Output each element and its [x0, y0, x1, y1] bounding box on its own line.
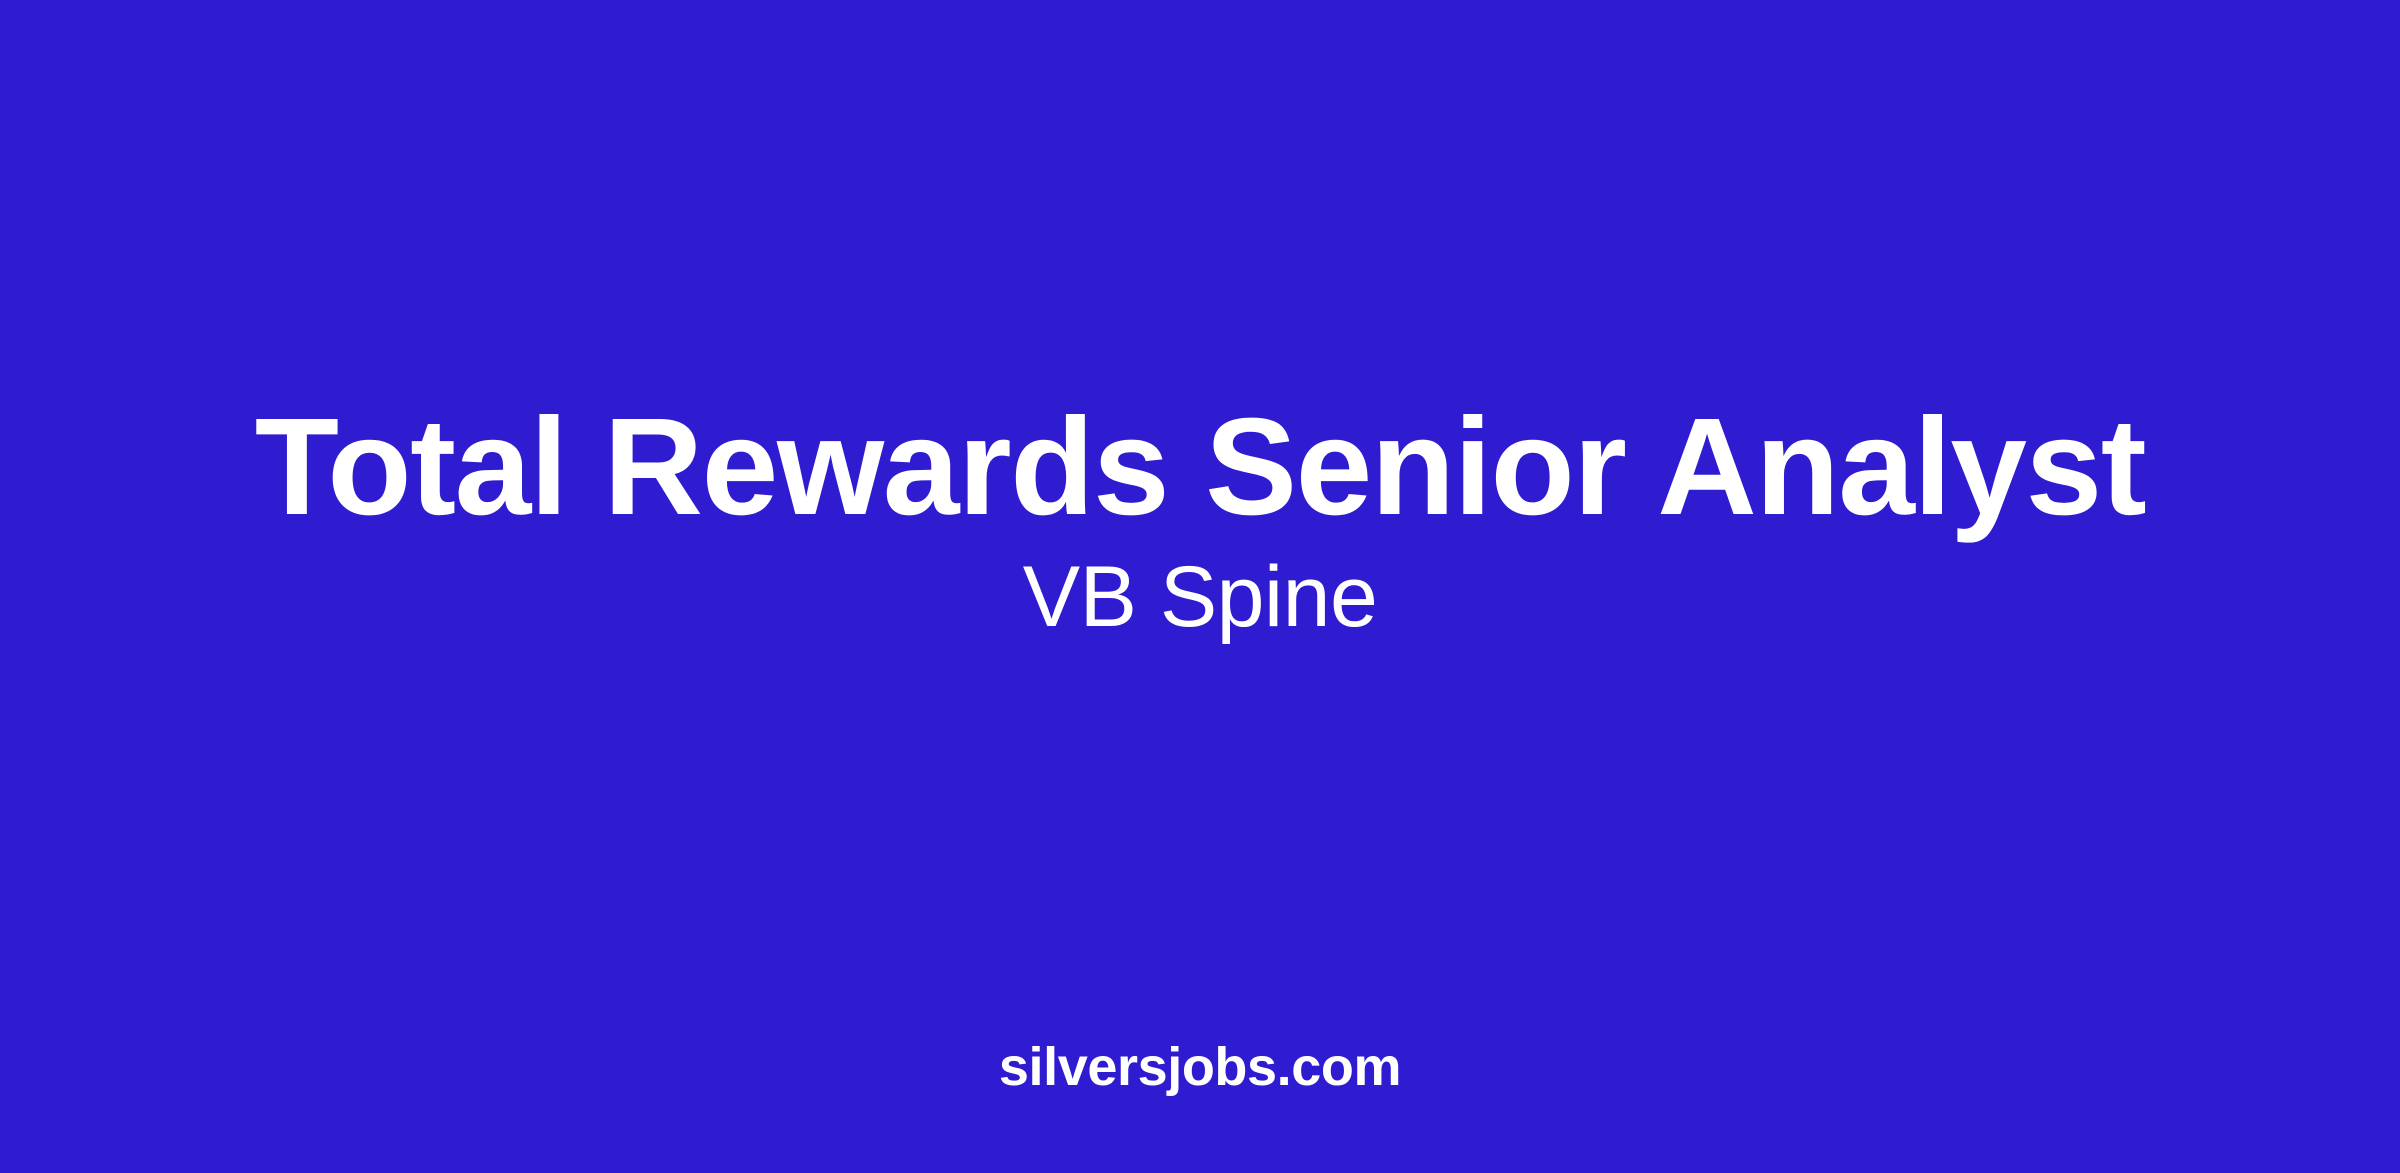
company-name: VB Spine	[1023, 554, 1378, 640]
site-brand: silversjobs.com	[0, 1040, 2400, 1094]
job-share-card: Total Rewards Senior Analyst VB Spine si…	[0, 0, 2400, 1173]
headline-block: Total Rewards Senior Analyst VB Spine	[0, 398, 2400, 640]
job-title: Total Rewards Senior Analyst	[255, 398, 2145, 536]
